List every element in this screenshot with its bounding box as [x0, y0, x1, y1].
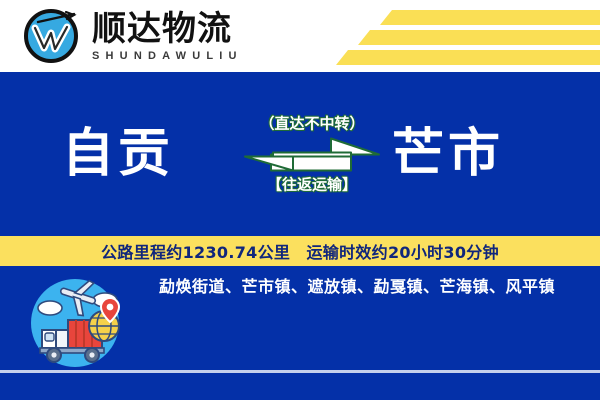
banner-header: 顺达物流 SHUNDAWULIU — [0, 0, 600, 72]
destination-city: 芒市 — [392, 128, 504, 180]
origin-city: 自贡 — [62, 128, 174, 180]
bottom-divider — [0, 370, 600, 373]
route-note-top: （直达不中转） — [259, 116, 364, 133]
brand-name-cn: 顺达物流 — [92, 12, 243, 48]
route-section: 自贡 （直达不中转） 【往返运输】 芒市 — [0, 72, 600, 236]
brand-text: 顺达物流 SHUNDAWULIU — [92, 10, 243, 63]
speed-stripes-decoration — [330, 8, 600, 66]
distance-duration-text: 公路里程约1230.74公里 运输时效约20小时30分钟 — [101, 239, 499, 263]
coverage-towns-text: 勐焕街道、芒市镇、遮放镇、勐戛镇、芒海镇、风平镇 — [128, 276, 586, 298]
brand-logo: 顺达物流 SHUNDAWULIU — [22, 6, 243, 66]
bidirectional-arrow-icon — [239, 134, 385, 174]
route-note-bottom: 【往返运输】 — [267, 176, 357, 193]
logistics-route-banner: 顺达物流 SHUNDAWULIU 自贡 （直达不中转） — [0, 0, 600, 400]
coverage-section: 勐焕街道、芒市镇、遮放镇、勐戛镇、芒海镇、风平镇 — [0, 266, 600, 400]
swoosh-circle-logo-icon — [22, 6, 82, 66]
brand-name-en: SHUNDAWULIU — [92, 50, 243, 62]
distance-duration-bar: 公路里程约1230.74公里 运输时效约20小时30分钟 — [0, 236, 600, 266]
truck-globe-airplane-icon — [22, 270, 128, 376]
route-arrow-group: （直达不中转） 【往返运输】 — [238, 116, 386, 193]
